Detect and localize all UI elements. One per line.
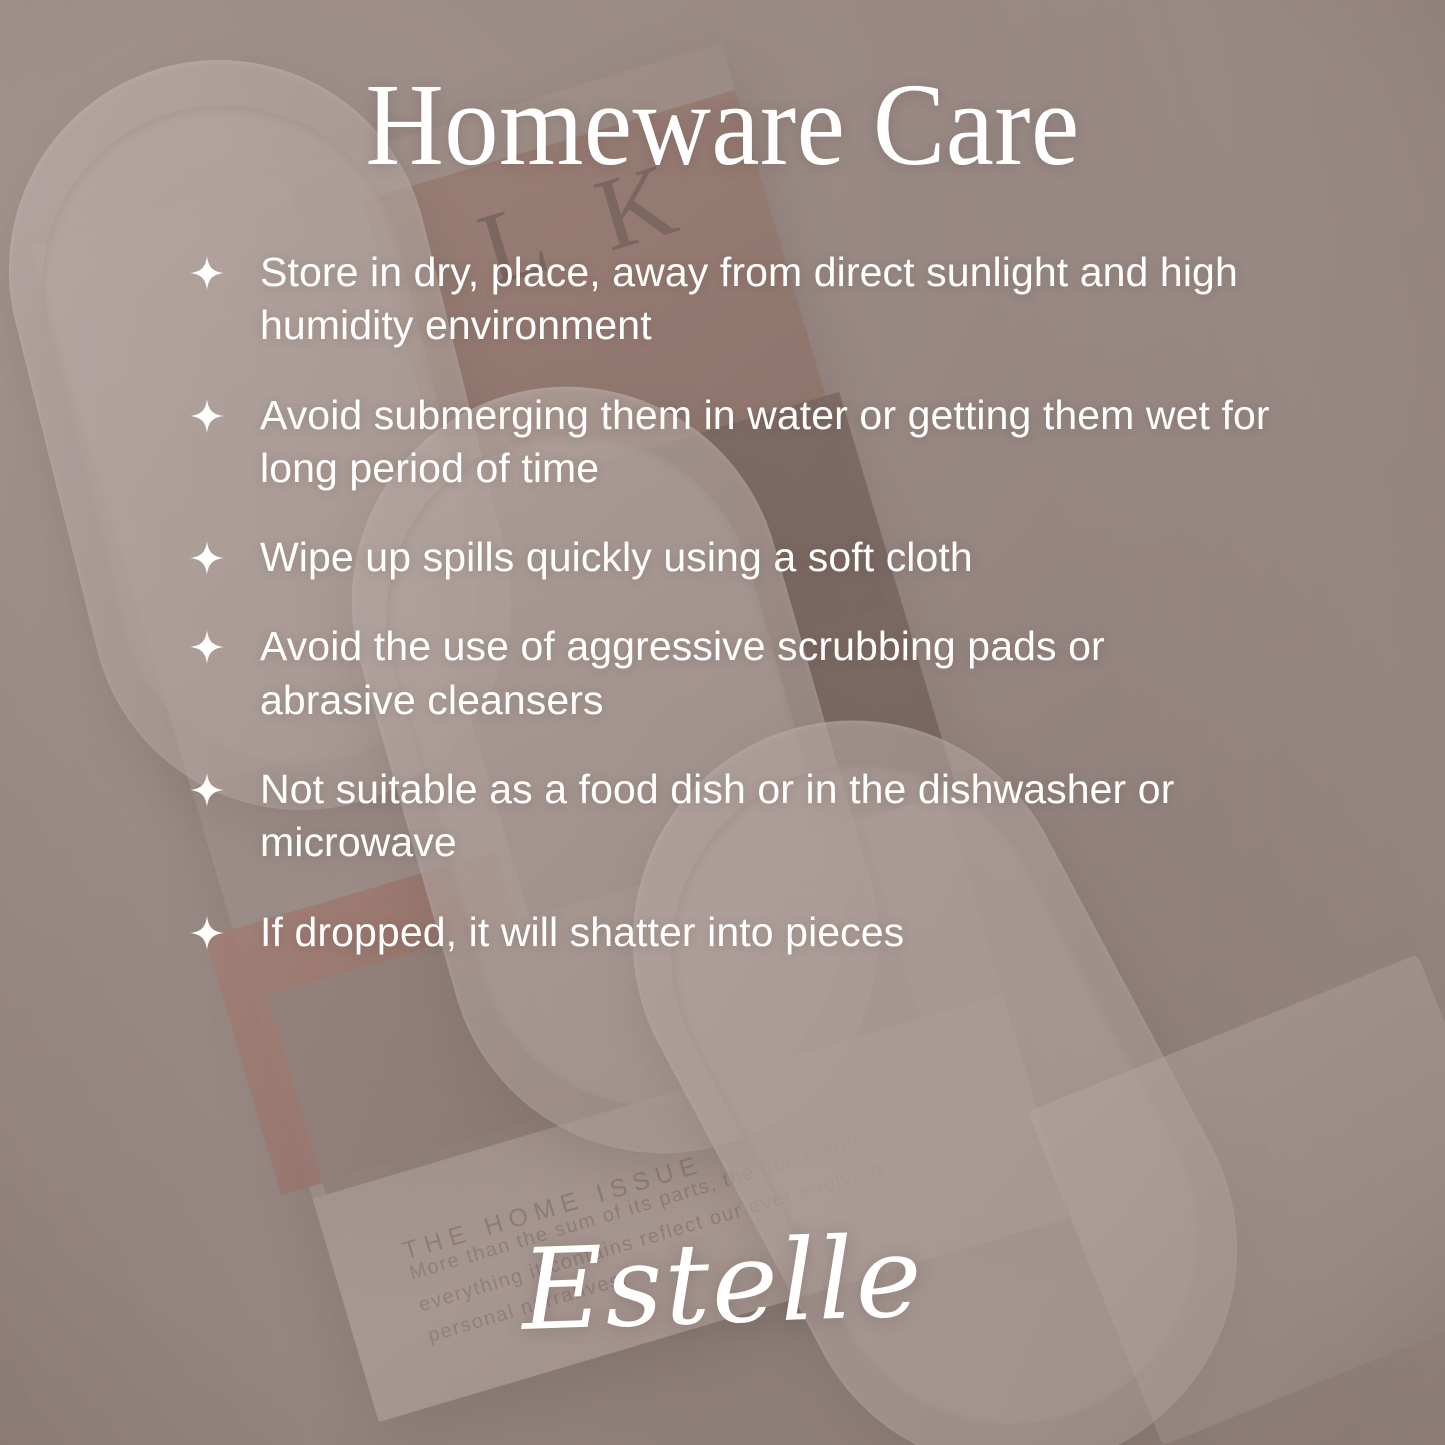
list-item: Store in dry, place, away from direct su… (190, 246, 1270, 353)
poster-canvas: L K THE HOME ISSUE More than the sum of … (0, 0, 1445, 1445)
sparkle-star-icon (190, 916, 224, 950)
poster-content: Homeware Care Store in dry, place, away … (0, 0, 1445, 1445)
list-item-label: Store in dry, place, away from direct su… (260, 246, 1270, 353)
care-instruction-list: Store in dry, place, away from direct su… (190, 246, 1270, 959)
list-item: If dropped, it will shatter into pieces (190, 906, 1270, 959)
list-item: Avoid submerging them in water or gettin… (190, 389, 1270, 496)
list-item: Not suitable as a food dish or in the di… (190, 763, 1270, 870)
sparkle-star-icon (190, 773, 224, 807)
list-item-label: Avoid submerging them in water or gettin… (260, 389, 1270, 496)
brand-signature: Estelle (0, 1194, 1445, 1374)
list-item-label: Avoid the use of aggressive scrubbing pa… (260, 620, 1270, 727)
page-title: Homeware Care (58, 62, 1387, 187)
sparkle-star-icon (190, 256, 224, 290)
list-item-label: Wipe up spills quickly using a soft clot… (260, 531, 973, 584)
list-item: Avoid the use of aggressive scrubbing pa… (190, 620, 1270, 727)
sparkle-star-icon (190, 399, 224, 433)
list-item-label: If dropped, it will shatter into pieces (260, 906, 904, 959)
sparkle-star-icon (190, 630, 224, 664)
list-item: Wipe up spills quickly using a soft clot… (190, 531, 1270, 584)
sparkle-star-icon (190, 541, 224, 575)
list-item-label: Not suitable as a food dish or in the di… (260, 763, 1270, 870)
